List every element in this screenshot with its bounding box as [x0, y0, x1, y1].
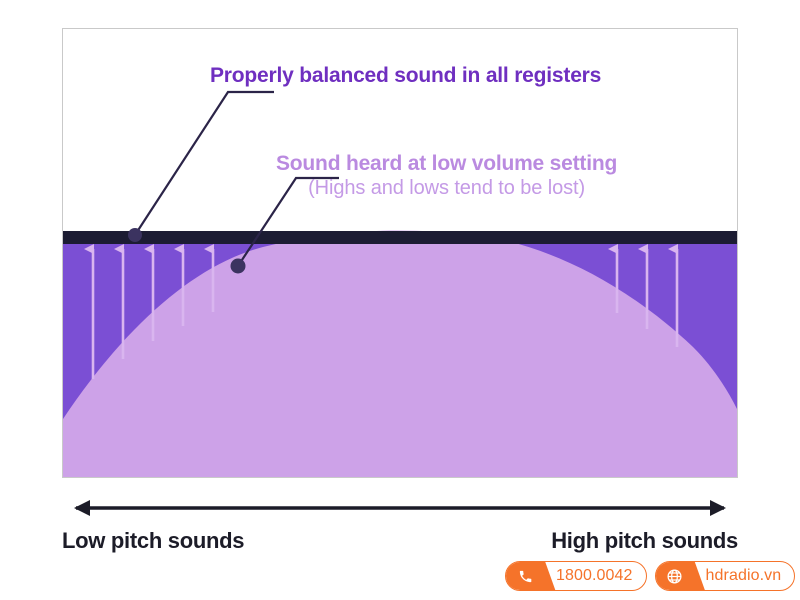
contact-badges: 1800.0042 hdradio.vn [505, 561, 795, 591]
phone-icon-wrap [506, 562, 550, 590]
axis-label-high-pitch: High pitch sounds [551, 528, 738, 554]
website-badge[interactable]: hdradio.vn [655, 561, 796, 591]
axis-label-low-pitch: Low pitch sounds [62, 528, 244, 554]
phone-icon [518, 569, 533, 584]
leader-dot-balanced [128, 228, 142, 242]
callout-balanced-sound: Properly balanced sound in all registers [210, 64, 601, 88]
balanced-reference-band [63, 231, 737, 244]
axis-labels: Low pitch sounds High pitch sounds [62, 528, 738, 560]
callout-low-volume: Sound heard at low volume setting (Highs… [276, 152, 617, 199]
chart-plot [63, 29, 737, 477]
phone-badge-text: 1800.0042 [550, 567, 646, 585]
infographic-canvas: Properly balanced sound in all registers… [0, 0, 800, 600]
callout-low-volume-title: Sound heard at low volume setting [276, 152, 617, 175]
callout-low-volume-subtitle: (Highs and lows tend to be lost) [276, 177, 617, 199]
phone-badge[interactable]: 1800.0042 [505, 561, 647, 591]
globe-icon [666, 568, 683, 585]
globe-icon-wrap [656, 562, 700, 590]
leader-dot-low-volume [231, 259, 246, 274]
pitch-axis-arrow [62, 492, 738, 528]
website-badge-text: hdradio.vn [700, 567, 795, 585]
chart-frame [62, 28, 738, 478]
